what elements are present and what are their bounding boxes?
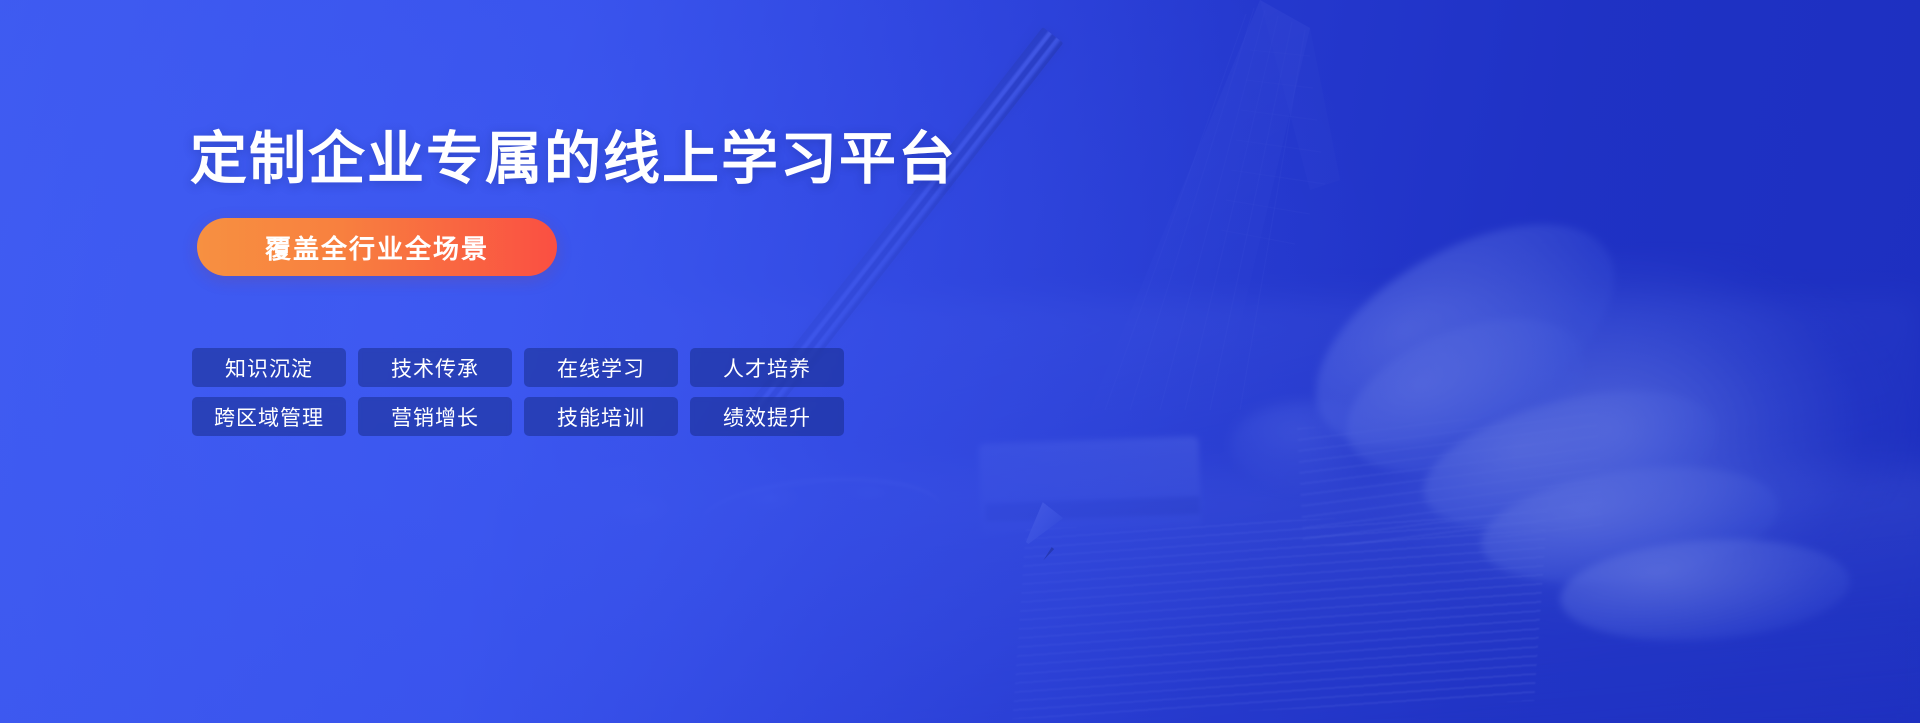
- page-title: 定制企业专属的线上学习平台: [190, 131, 957, 188]
- tag-knowledge-precipitation[interactable]: 知识沉淀: [192, 348, 346, 387]
- tag-cross-region-management[interactable]: 跨区域管理: [192, 397, 346, 436]
- tag-talent-development[interactable]: 人才培养: [690, 348, 844, 387]
- feature-tag-row-1: 知识沉淀 技术传承 在线学习 人才培养: [192, 348, 844, 387]
- feature-tag-row-2: 跨区域管理 营销增长 技能培训 绩效提升: [192, 397, 844, 436]
- coverage-badge[interactable]: 覆盖全行业全场景: [197, 218, 557, 276]
- tag-marketing-growth[interactable]: 营销增长: [358, 397, 512, 436]
- tag-label: 知识沉淀: [225, 353, 313, 383]
- tag-label: 营销增长: [391, 402, 479, 432]
- banner-content: 定制企业专属的线上学习平台 覆盖全行业全场景 知识沉淀 技术传承 在线学习 人才…: [0, 0, 1920, 723]
- hero-banner: 定制企业专属的线上学习平台 覆盖全行业全场景 知识沉淀 技术传承 在线学习 人才…: [0, 0, 1920, 723]
- tag-label: 技术传承: [391, 353, 479, 383]
- tag-label: 跨区域管理: [214, 402, 324, 432]
- tag-label: 绩效提升: [723, 402, 811, 432]
- tag-online-learning[interactable]: 在线学习: [524, 348, 678, 387]
- tag-skills-training[interactable]: 技能培训: [524, 397, 678, 436]
- feature-tag-grid: 知识沉淀 技术传承 在线学习 人才培养 跨区域管理 营销增长: [192, 348, 844, 436]
- coverage-badge-label: 覆盖全行业全场景: [265, 229, 489, 266]
- tag-technology-inheritance[interactable]: 技术传承: [358, 348, 512, 387]
- tag-label: 在线学习: [557, 353, 645, 383]
- tag-label: 技能培训: [557, 402, 645, 432]
- tag-performance-improvement[interactable]: 绩效提升: [690, 397, 844, 436]
- tag-label: 人才培养: [723, 353, 811, 383]
